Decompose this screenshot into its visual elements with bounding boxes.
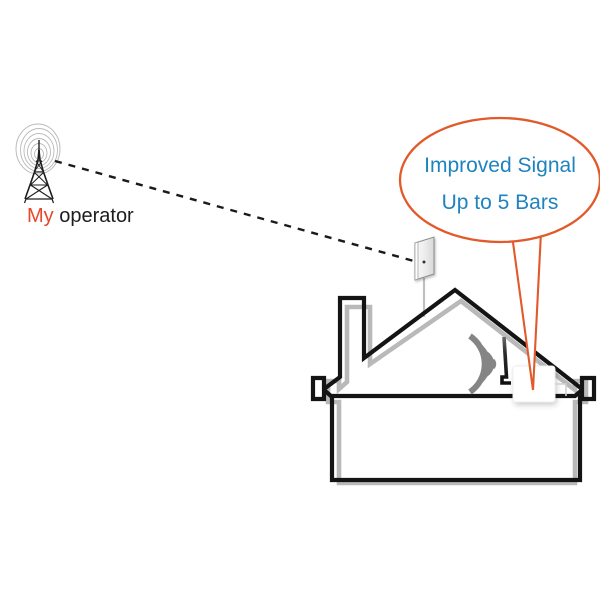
speech-bubble-ellipse (400, 118, 600, 242)
booster-whip-antenna (502, 337, 511, 383)
bubble-line-1: Improved Signal (424, 154, 576, 177)
bubble-line-2: Up to 5 Bars (442, 191, 559, 214)
operator-label-rest: operator (54, 205, 134, 227)
operator-label: My operator (27, 205, 134, 227)
diagram-canvas: My operator (0, 0, 600, 600)
wifi-arcs-icon (470, 336, 495, 392)
cell-tower-group: My operator (16, 124, 134, 227)
diagram-svg: My operator (0, 0, 600, 600)
outdoor-antenna-panel-edge (415, 242, 418, 280)
outdoor-antenna-group (415, 237, 434, 317)
outdoor-antenna-port (423, 261, 426, 264)
operator-label-accent: My (27, 205, 54, 227)
house-body-outline (332, 395, 580, 480)
